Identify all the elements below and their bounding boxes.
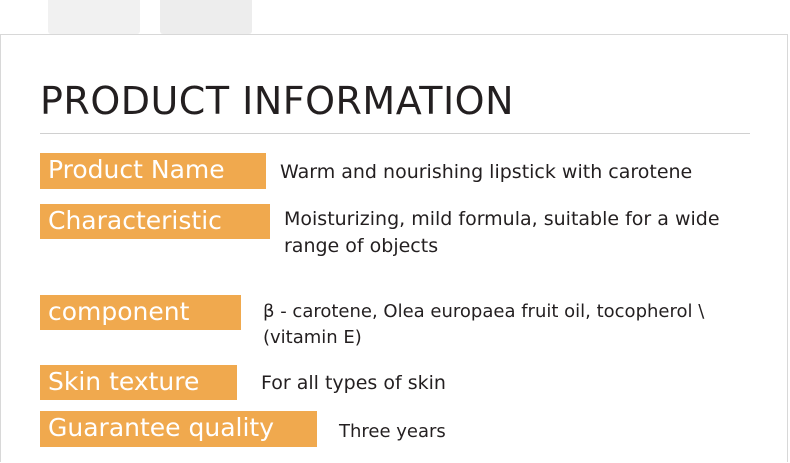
spec-row-product-name: Product Name Warm and nourishing lipstic… — [40, 153, 752, 189]
spec-value-guarantee-quality: Three years — [317, 411, 446, 445]
spec-label-guarantee-quality: Guarantee quality — [40, 411, 317, 447]
spec-label-product-name: Product Name — [40, 153, 266, 189]
spec-value-characteristic: Moisturizing, mild formula, suitable for… — [270, 204, 752, 261]
title-divider — [40, 133, 750, 134]
product-photo-thumbnail-1 — [48, 0, 140, 34]
spec-value-skin-texture: For all types of skin — [237, 365, 446, 398]
spec-value-product-name: Warm and nourishing lipstick with carote… — [266, 153, 692, 187]
specification-list: Product Name Warm and nourishing lipstic… — [40, 153, 752, 447]
spec-row-characteristic: Characteristic Moisturizing, mild formul… — [40, 204, 752, 261]
spec-row-skin-texture: Skin texture For all types of skin — [40, 365, 752, 401]
spec-value-component: β - carotene, Olea europaea fruit oil, t… — [241, 295, 743, 351]
product-photo-strip — [0, 0, 790, 34]
product-photo-thumbnail-2 — [160, 0, 252, 34]
spec-label-skin-texture: Skin texture — [40, 365, 237, 401]
spec-row-component: component β - carotene, Olea europaea fr… — [40, 295, 752, 351]
product-information-page: PRODUCT INFORMATION Product Name Warm an… — [0, 0, 790, 463]
spec-label-component: component — [40, 295, 241, 331]
spec-row-guarantee-quality: Guarantee quality Three years — [40, 411, 752, 447]
spec-label-characteristic: Characteristic — [40, 204, 270, 240]
information-card: PRODUCT INFORMATION Product Name Warm an… — [0, 34, 788, 462]
page-title: PRODUCT INFORMATION — [40, 79, 514, 123]
